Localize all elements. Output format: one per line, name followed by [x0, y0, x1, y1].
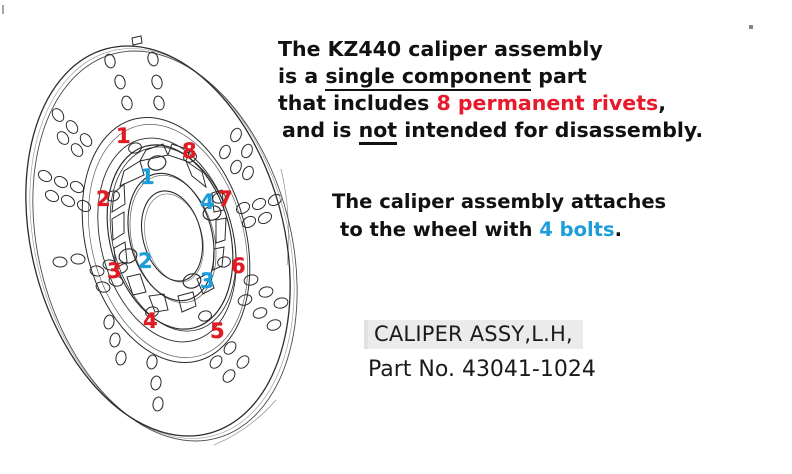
rotor-inner-rings — [56, 99, 275, 382]
rivet-callout-3: 3 — [107, 261, 122, 282]
part-caption: CALIPER ASSY,L.H, Part No. 43041-1024 — [364, 320, 596, 382]
rivet-callout-8: 8 — [182, 141, 197, 162]
rivet-callout-2: 2 — [96, 189, 111, 210]
line4-suffix: intended for disassembly. — [397, 118, 703, 142]
scan-speck-top-right — [749, 25, 753, 29]
permanent-rivets-highlight: 8 permanent rivets — [436, 91, 658, 115]
second-line2-prefix: to the wheel with — [340, 218, 539, 241]
main-text-line-3: that includes 8 permanent rivets, — [278, 90, 703, 117]
not-underlined: not — [359, 118, 397, 145]
part-name: CALIPER ASSY,L.H, — [374, 322, 573, 346]
line4-prefix: and is — [282, 118, 359, 142]
rotor-top-tab — [132, 36, 142, 45]
rivet-callout-6: 6 — [231, 256, 246, 277]
bolt-callout-2: 2 — [138, 251, 153, 272]
single-component-underlined: single component — [325, 64, 531, 91]
rivet-callout-4: 4 — [143, 311, 158, 332]
rivet-callout-7: 7 — [218, 189, 233, 210]
rivet-callout-5: 5 — [210, 321, 225, 342]
drilled-holes — [36, 51, 289, 412]
four-bolts-highlight: 4 bolts — [539, 218, 614, 241]
second-text-line-1: The caliper assembly attaches — [332, 188, 666, 216]
line2-prefix: is a — [278, 64, 325, 88]
bolt-callout-1: 1 — [140, 167, 155, 188]
parts-diagram-page: 1 2 3 4 5 6 7 8 1 2 3 4 The KZ440 calipe… — [0, 0, 792, 474]
scan-speck-top-left — [2, 5, 4, 14]
line3-suffix: , — [658, 91, 666, 115]
secondary-annotation-text: The caliper assembly attaches to the whe… — [332, 188, 666, 244]
part-name-highlight: CALIPER ASSY,L.H, — [364, 320, 583, 349]
second-line2-suffix: . — [615, 218, 622, 241]
main-annotation-text: The KZ440 caliper assembly is a single c… — [278, 36, 703, 144]
line2-suffix: part — [531, 64, 587, 88]
second-text-line-2: to the wheel with 4 bolts. — [332, 216, 666, 244]
bolt-callout-3: 3 — [200, 271, 215, 292]
rivet-callout-1: 1 — [116, 126, 131, 147]
line3-prefix: that includes — [278, 91, 436, 115]
bolt-callout-4: 4 — [200, 192, 215, 213]
main-text-line-4: and is not intended for disassembly. — [278, 117, 703, 144]
main-text-line-1: The KZ440 caliper assembly — [278, 36, 703, 63]
main-text-line-2: is a single component part — [278, 63, 703, 90]
part-number: Part No. 43041-1024 — [364, 357, 596, 382]
